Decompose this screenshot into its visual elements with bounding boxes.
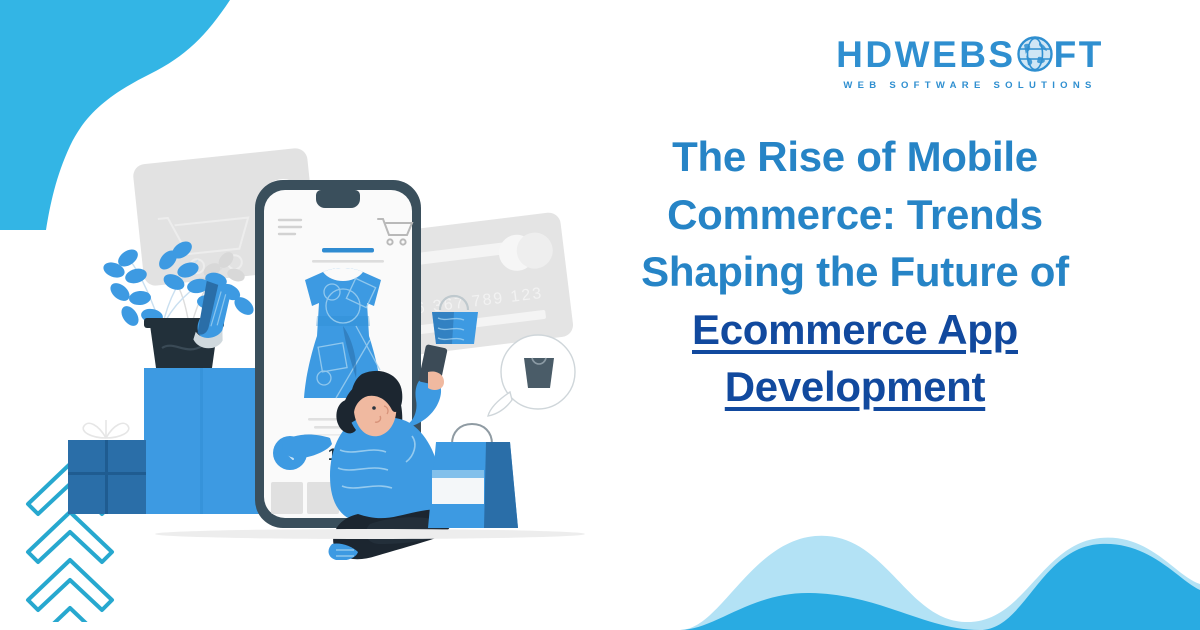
shopping-illustration: 456 367 789 123 bbox=[40, 120, 620, 560]
gift-bow bbox=[83, 420, 129, 438]
shopping-bag bbox=[428, 424, 518, 528]
speech-bubble-with-bag bbox=[488, 335, 575, 416]
logo-text-part1: HDWEBS bbox=[836, 36, 1015, 73]
headline-highlight-line-2: Development bbox=[570, 358, 1140, 416]
headline-line-2: Commerce: Trends bbox=[570, 186, 1140, 244]
logo-tagline: WEB SOFTWARE SOLUTIONS bbox=[843, 80, 1096, 91]
headline-line-1: The Rise of Mobile bbox=[570, 128, 1140, 186]
hdwebsoft-logo[interactable]: HDWEBS FT WEB SOFTWARE SOLUTIONS bbox=[835, 32, 1105, 94]
bottom-right-wave-decoration bbox=[680, 480, 1200, 630]
headline-line-3: Shaping the Future of bbox=[570, 243, 1140, 301]
logo-text-part2: FT bbox=[1054, 36, 1104, 73]
shopping-bag-icon bbox=[524, 358, 554, 388]
cover-canvas: HDWEBS FT WEB SOFTWARE SOLUTIONS The Ris… bbox=[0, 0, 1200, 630]
globe-icon bbox=[1017, 36, 1053, 72]
product-title-bar bbox=[322, 248, 374, 253]
logo-wordmark: HDWEBS FT bbox=[836, 36, 1104, 73]
page-title: The Rise of Mobile Commerce: Trends Shap… bbox=[570, 128, 1140, 416]
headline-highlight-line-1: Ecommerce App bbox=[570, 301, 1140, 359]
gift-box bbox=[68, 420, 146, 514]
bag-handles bbox=[452, 424, 492, 444]
ground-shadow bbox=[155, 529, 585, 539]
chevron-icon bbox=[28, 560, 112, 610]
